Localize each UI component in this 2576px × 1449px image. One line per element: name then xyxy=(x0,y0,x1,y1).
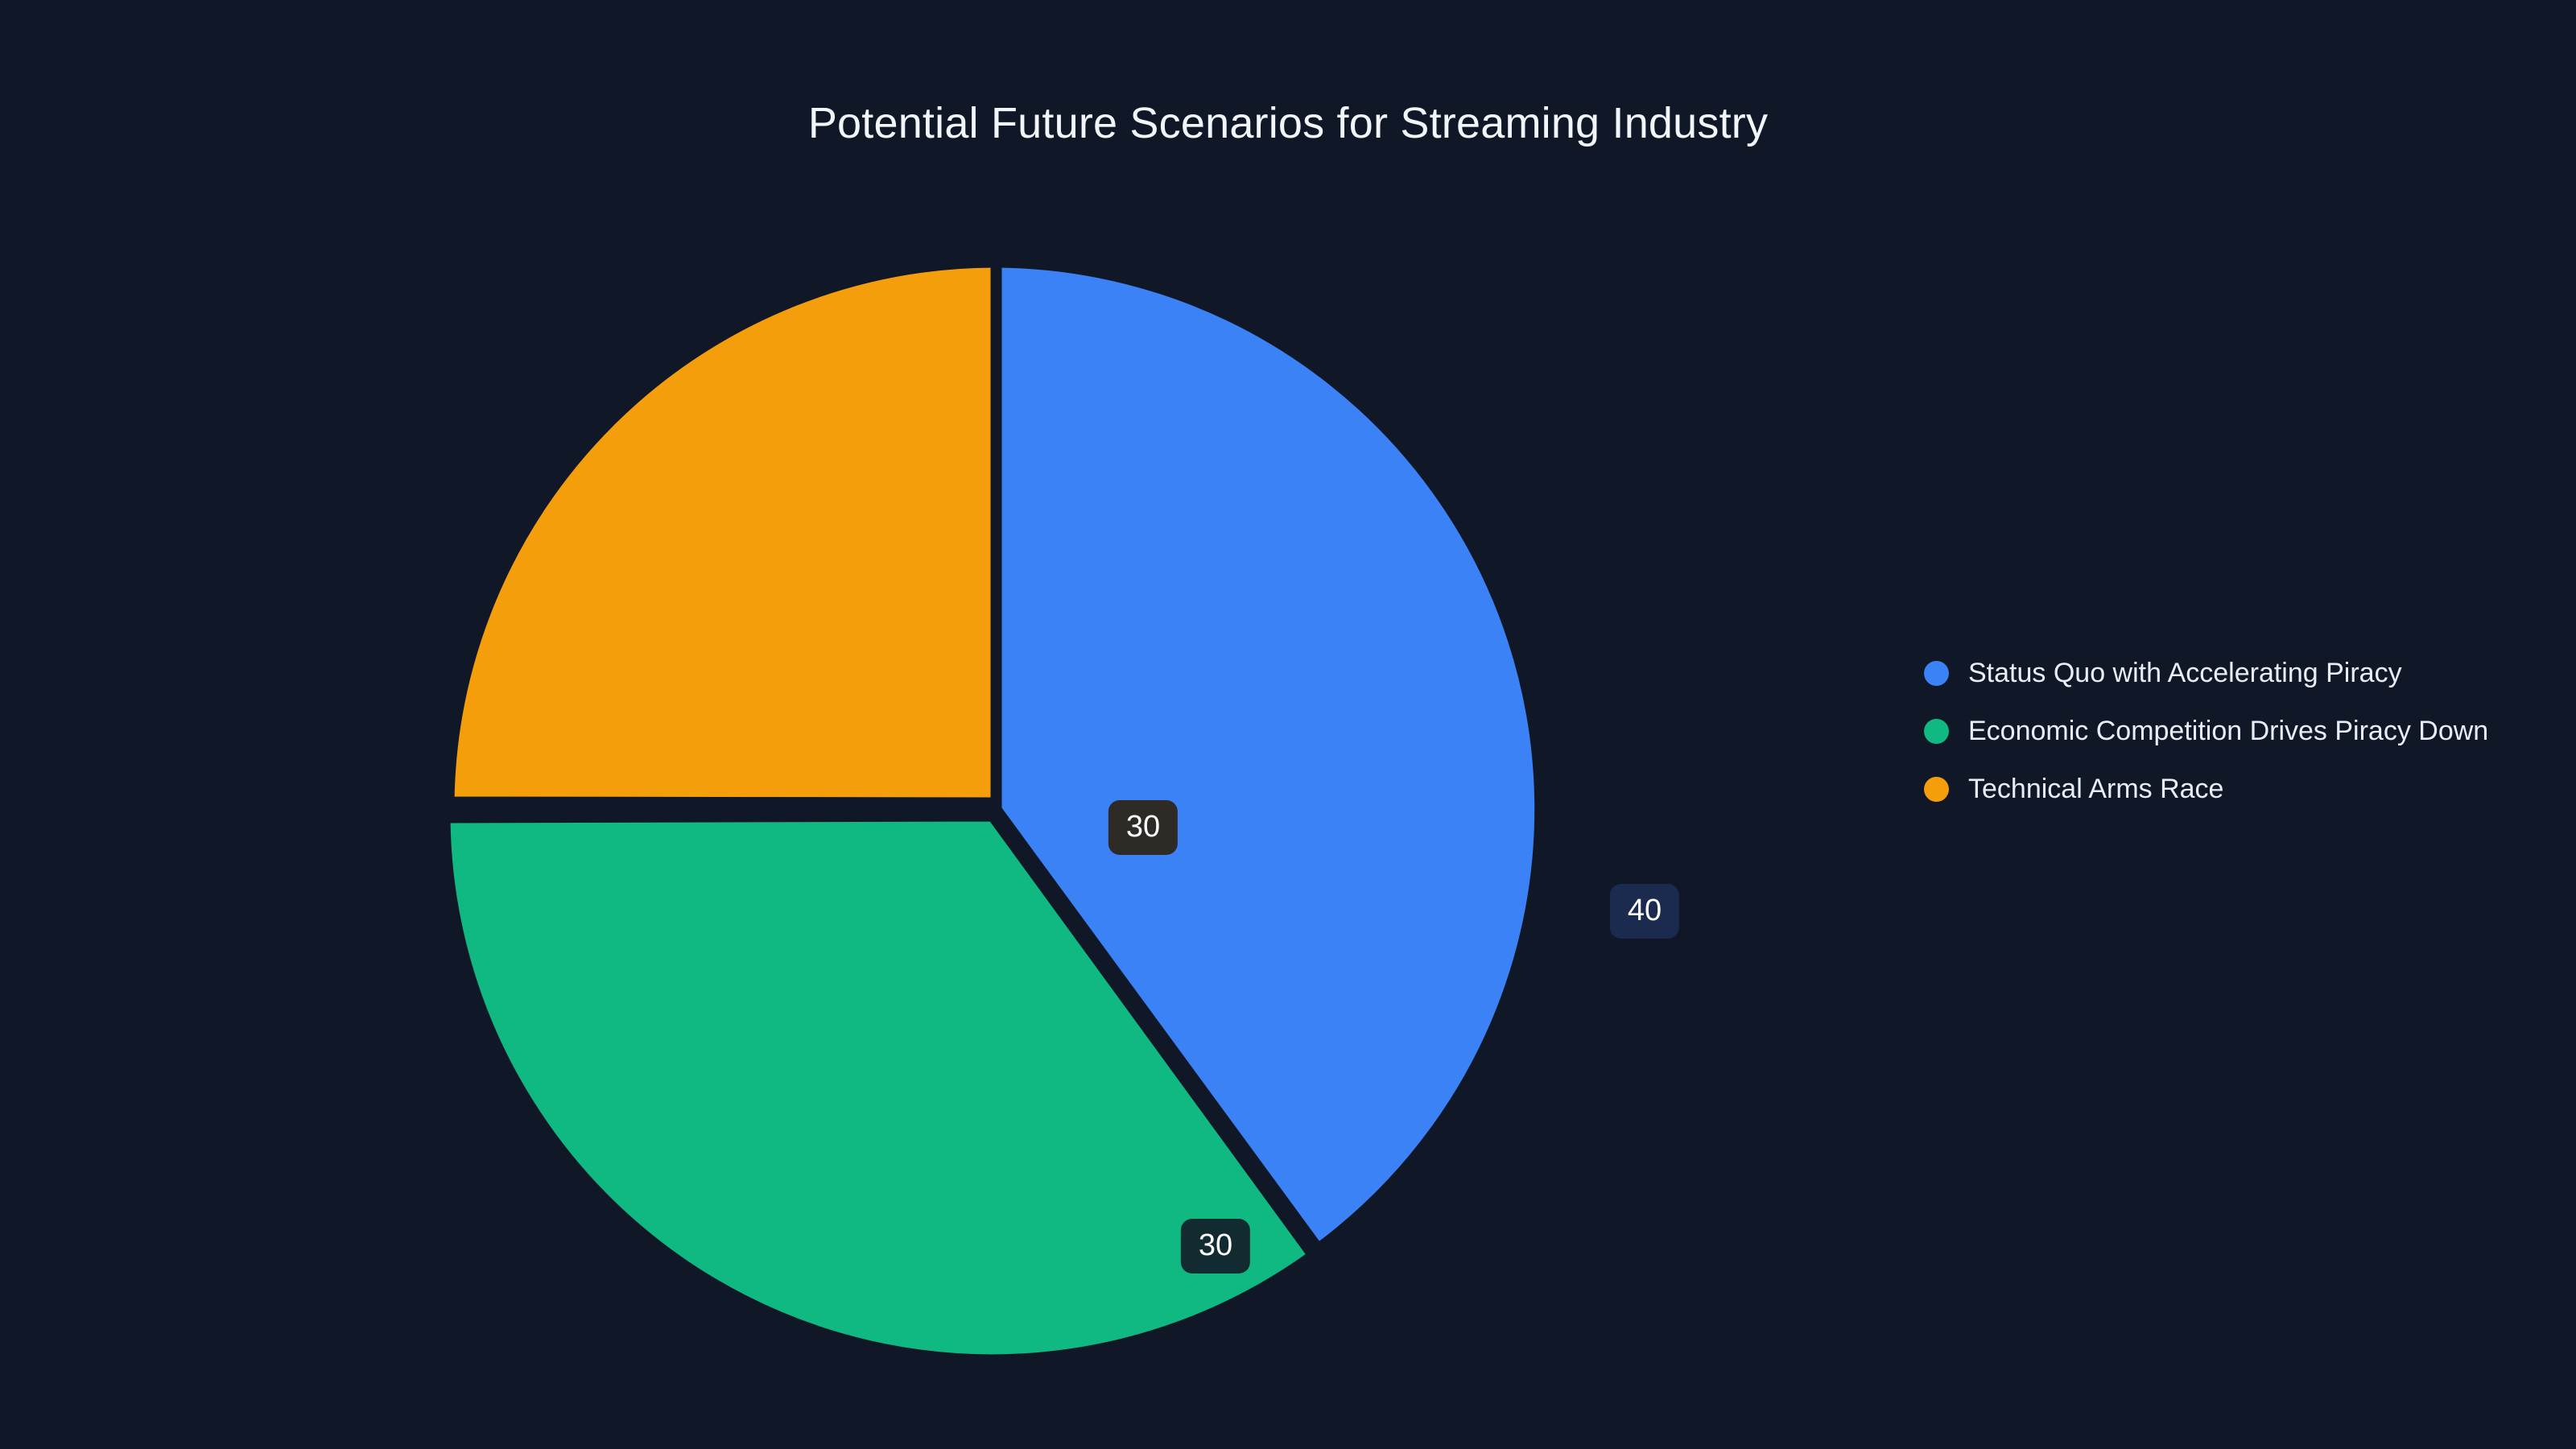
pie-chart-figure: Potential Future Scenarios for Streaming… xyxy=(0,0,2576,1449)
legend-item[interactable]: Status Quo with Accelerating Piracy xyxy=(1924,644,2536,702)
pie-slice-group xyxy=(447,264,1538,1358)
legend-swatch-circle-icon xyxy=(1924,661,1949,686)
legend-swatch-circle-icon xyxy=(1924,777,1949,802)
legend-item-label: Technical Arms Race xyxy=(1968,775,2223,803)
pie-svg xyxy=(386,197,1610,1421)
legend-item[interactable]: Technical Arms Race xyxy=(1924,760,2536,818)
legend: Status Quo with Accelerating PiracyEcono… xyxy=(1924,644,2536,818)
legend-swatch-circle-icon xyxy=(1924,719,1949,744)
slice-value-label: 40 xyxy=(1610,884,1679,939)
legend-item-label: Status Quo with Accelerating Piracy xyxy=(1968,659,2402,687)
legend-item-label: Economic Competition Drives Piracy Down xyxy=(1968,717,2488,745)
plot-area: 403030 xyxy=(0,0,1811,1449)
legend-item[interactable]: Economic Competition Drives Piracy Down xyxy=(1924,702,2536,760)
pie-slice[interactable] xyxy=(451,264,994,801)
